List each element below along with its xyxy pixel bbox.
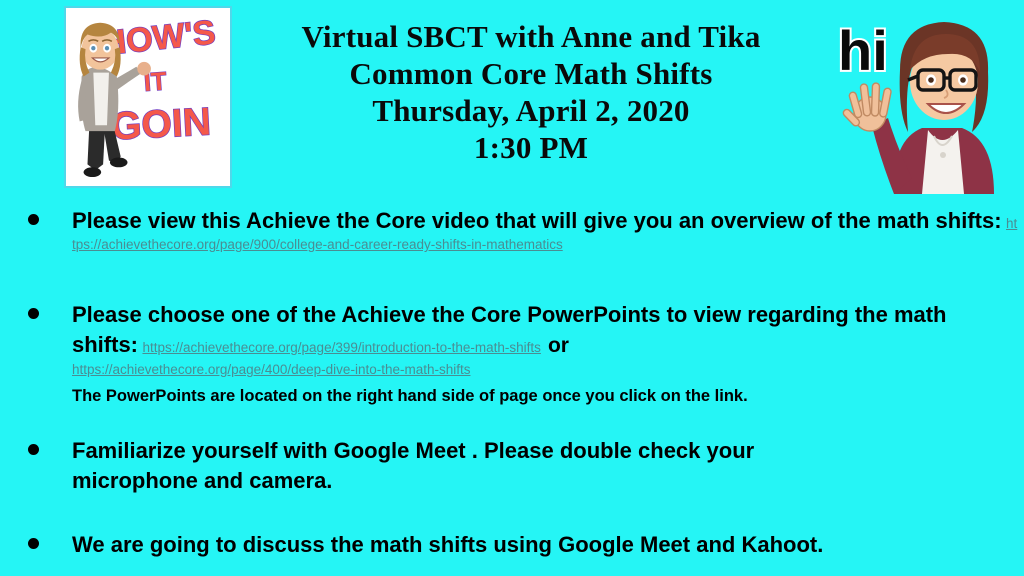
bullet-item-4: We are going to discuss the math shifts … bbox=[28, 530, 1018, 560]
title-line-2: Common Core Math Shifts bbox=[246, 55, 816, 92]
bullet-item-1: Please view this Achieve the Core video … bbox=[28, 206, 1018, 254]
bullet-1-body: Please view this Achieve the Core video … bbox=[72, 206, 1018, 254]
slide-header: HOW'S IT GOIN bbox=[0, 0, 1024, 200]
hi-caption: hi bbox=[838, 19, 888, 82]
bullet-4-body: We are going to discuss the math shifts … bbox=[72, 530, 1018, 560]
svg-text:GOIN: GOIN bbox=[110, 100, 212, 148]
title-line-4: 1:30 PM bbox=[246, 129, 816, 166]
bullet-item-2: Please choose one of the Achieve the Cor… bbox=[28, 300, 1018, 407]
hi-waving-bitmoji-image: hi bbox=[822, 8, 1018, 194]
title-line-1: Virtual SBCT with Anne and Tika bbox=[246, 18, 816, 55]
bullet-marker-icon bbox=[28, 444, 39, 455]
presentation-slide: HOW'S IT GOIN bbox=[0, 0, 1024, 576]
bullet-3-body: Familiarize yourself with Google Meet . … bbox=[72, 436, 872, 496]
bullet-4-text: We are going to discuss the math shifts … bbox=[72, 532, 823, 557]
title-line-3: Thursday, April 2, 2020 bbox=[246, 92, 816, 129]
bullet-3-text: Familiarize yourself with Google Meet . … bbox=[72, 438, 754, 493]
bullet-2-link-2[interactable]: https://achievethecore.org/page/400/deep… bbox=[72, 361, 1018, 379]
bullet-2-conjunction: or bbox=[541, 334, 569, 357]
bullet-item-3: Familiarize yourself with Google Meet . … bbox=[28, 436, 1018, 496]
hows-it-goin-illustration: HOW'S IT GOIN bbox=[66, 8, 230, 186]
bullet-2-body: Please choose one of the Achieve the Cor… bbox=[72, 300, 1018, 407]
slide-body: Please view this Achieve the Core video … bbox=[0, 200, 1024, 576]
slide-title: Virtual SBCT with Anne and Tika Common C… bbox=[246, 18, 816, 166]
bullet-1-text: Please view this Achieve the Core video … bbox=[72, 208, 1002, 233]
bullet-marker-icon bbox=[28, 308, 39, 319]
bullet-2-note: The PowerPoints are located on the right… bbox=[72, 385, 1018, 407]
bullet-2-link-1[interactable]: https://achievethecore.org/page/399/intr… bbox=[142, 340, 540, 355]
bullet-marker-icon bbox=[28, 538, 39, 549]
bullet-marker-icon bbox=[28, 214, 39, 225]
hi-waving-illustration: hi bbox=[822, 8, 1018, 194]
hows-it-goin-image: HOW'S IT GOIN bbox=[64, 6, 232, 188]
